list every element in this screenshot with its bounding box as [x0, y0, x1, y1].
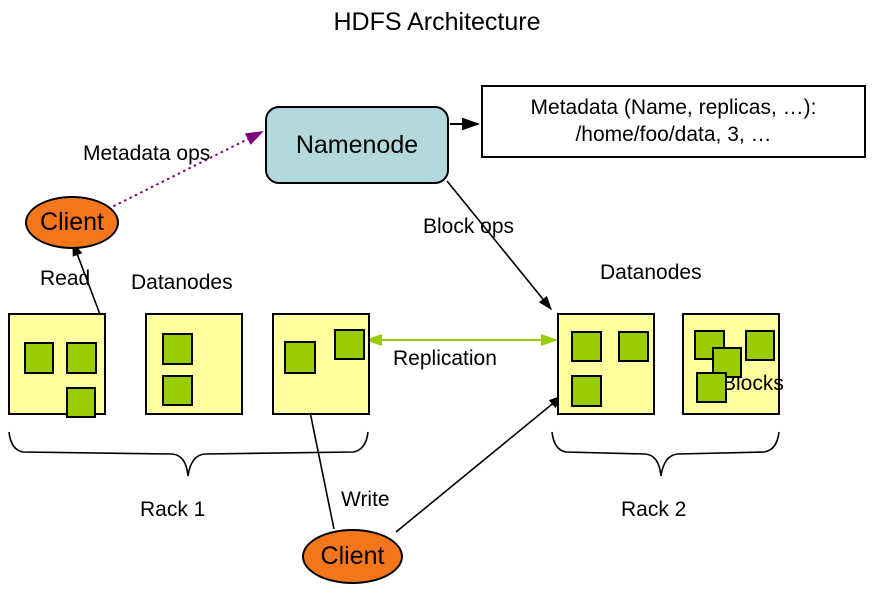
page-title: HDFS Architecture: [0, 10, 874, 35]
hdfs-architecture-diagram: HDFS Architecture: [0, 0, 874, 604]
client-write-label: Client: [321, 542, 385, 571]
label-read: Read: [40, 268, 90, 289]
block: [745, 330, 775, 361]
label-replication: Replication: [393, 348, 497, 369]
label-datanodes-left: Datanodes: [131, 272, 233, 293]
block: [571, 331, 602, 362]
metadata-line-1: Metadata (Name, replicas, …):: [531, 95, 817, 121]
block: [618, 331, 649, 362]
label-metadata-ops: Metadata ops: [83, 143, 210, 164]
block: [24, 342, 54, 374]
client-read-label: Client: [40, 208, 104, 237]
label-rack-2: Rack 2: [621, 499, 686, 520]
block: [696, 372, 727, 403]
rack1-brace: [9, 432, 368, 476]
datanode-5[interactable]: [682, 313, 780, 415]
block: [66, 387, 96, 418]
connector-write-dn4: [396, 396, 562, 532]
block: [571, 375, 602, 407]
metadata-box[interactable]: Metadata (Name, replicas, …): /home/foo/…: [481, 85, 866, 158]
namenode-label: Namenode: [296, 131, 418, 160]
namenode-box[interactable]: Namenode: [265, 106, 449, 184]
rack2-brace: [552, 432, 779, 476]
metadata-line-2: /home/foo/data, 3, …: [575, 122, 771, 148]
client-read-node[interactable]: Client: [25, 196, 119, 249]
client-write-node[interactable]: Client: [302, 529, 403, 584]
block: [162, 375, 193, 406]
datanode-1[interactable]: [8, 313, 106, 415]
block: [66, 342, 97, 374]
block: [162, 333, 193, 365]
datanode-2[interactable]: [145, 313, 243, 415]
datanode-3[interactable]: [272, 313, 370, 415]
label-datanodes-right: Datanodes: [600, 262, 702, 283]
label-write: Write: [341, 489, 390, 510]
block: [284, 341, 316, 374]
label-rack-1: Rack 1: [140, 499, 205, 520]
connector-block-ops: [447, 181, 551, 309]
datanode-4[interactable]: [557, 313, 655, 415]
block: [334, 329, 365, 360]
label-block-ops: Block ops: [423, 216, 514, 237]
